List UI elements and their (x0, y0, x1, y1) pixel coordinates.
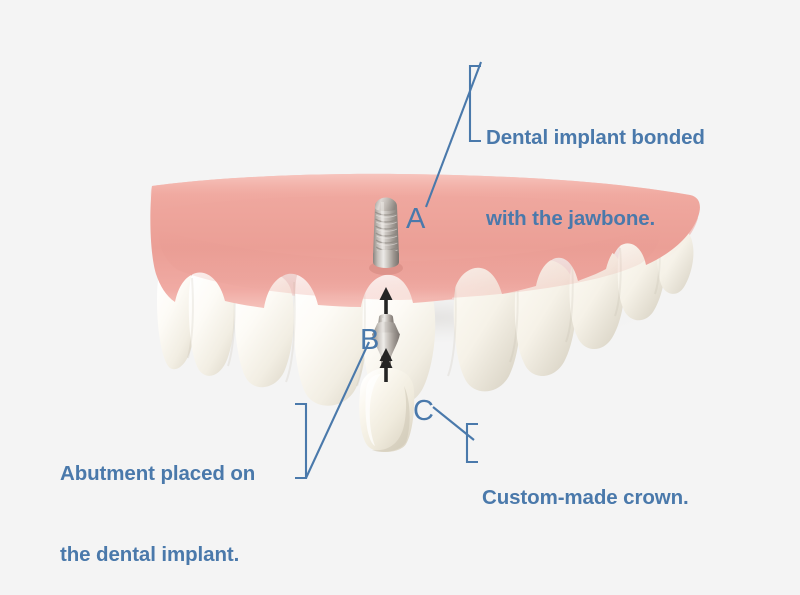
callout-a-text: Dental implant bonded with the jawbone. (486, 70, 705, 259)
callout-a-line2: with the jawbone. (486, 205, 705, 232)
callout-c-line1: Custom-made crown. (482, 484, 689, 511)
marker-letter-a: A (406, 205, 425, 234)
callout-a-line1: Dental implant bonded (486, 124, 705, 151)
marker-letter-b: B (360, 326, 379, 355)
callout-b-line2: the dental implant. (60, 541, 255, 568)
marker-letter-c: C (413, 397, 434, 426)
callout-c-text: Custom-made crown. (482, 430, 689, 538)
bracket-b (295, 404, 306, 478)
callout-b-text: Abutment placed on the dental implant. (60, 406, 255, 595)
implant-collar (373, 250, 399, 269)
callout-b-line1: Abutment placed on (60, 460, 255, 487)
bracket-c (467, 424, 478, 462)
